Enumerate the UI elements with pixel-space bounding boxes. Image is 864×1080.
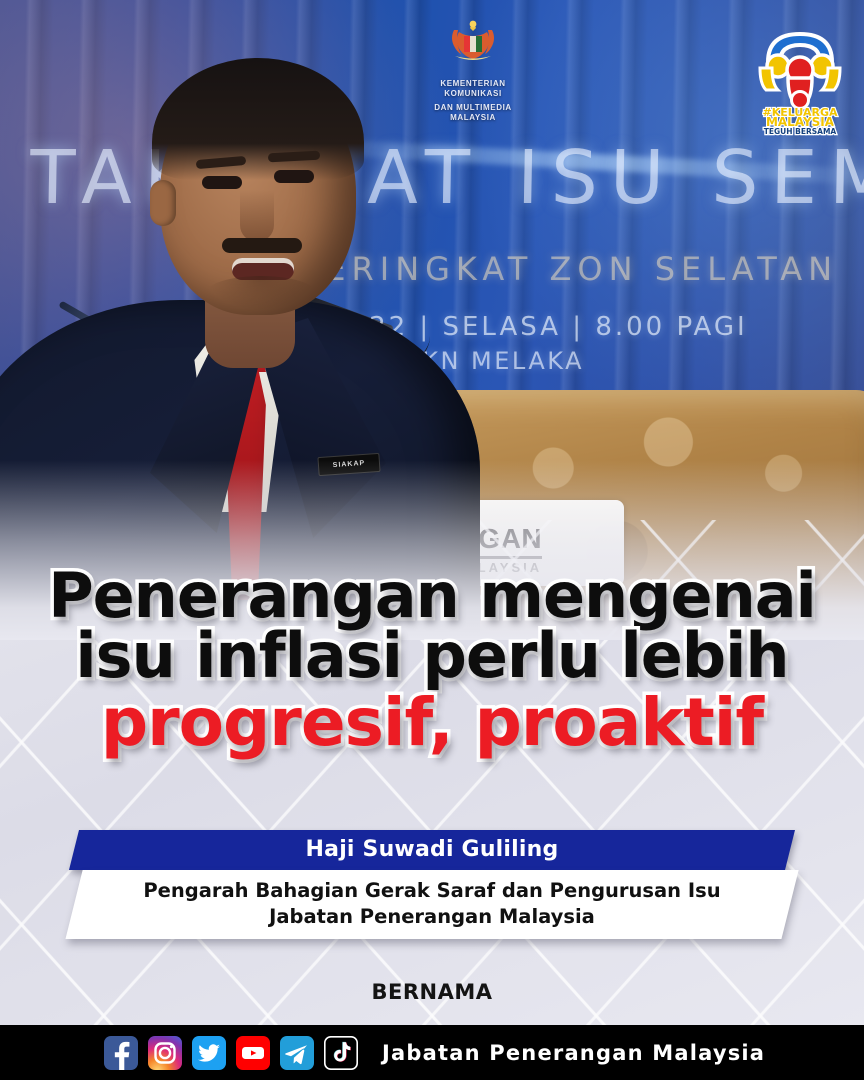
headline-line-3: progresif, proaktif [0, 691, 864, 754]
tiktok-icon[interactable] [324, 1036, 358, 1070]
instagram-icon[interactable] [148, 1036, 182, 1070]
podium-logo-top: JABATAN [338, 512, 542, 525]
speaker-eye-right [274, 170, 314, 183]
keluarga-logo-line3: TEGUH BERSAMA [764, 127, 837, 136]
headline-line-1: Penerangan mengenai [0, 566, 864, 626]
speaker-eye-left [202, 176, 242, 189]
speaker-name-badge: SIAKAP [317, 453, 380, 476]
speaker-title-line-1: Pengarah Bahagian Gerak Saraf dan Pengur… [84, 878, 780, 904]
speaker-figure: SIAKAP [0, 0, 560, 640]
twitter-icon[interactable] [192, 1036, 226, 1070]
keluarga-malaysia-logo: #KELUARGA MALAYSIA TEGUH BERSAMA [748, 16, 852, 136]
footer-bar: Jabatan Penerangan Malaysia [0, 1025, 864, 1080]
facebook-icon[interactable] [104, 1036, 138, 1070]
headline: Penerangan mengenai isu inflasi perlu le… [0, 566, 864, 754]
speaker-title-line-2: Jabatan Penerangan Malaysia [84, 904, 780, 930]
speaker-name-banner: Haji Suwadi Guliling [69, 830, 795, 870]
speaker-ear [150, 180, 176, 226]
speaker-title-banner: Pengarah Bahagian Gerak Saraf dan Pengur… [65, 870, 798, 939]
news-source-credit: BERNAMA [0, 980, 864, 1004]
speaker-nose [240, 190, 274, 242]
poster-root: KEMENTERIAN KOMUNIKASI DAN MULTIMEDIA MA… [0, 0, 864, 1080]
podium-logo-main: PENERANGAN [338, 525, 542, 553]
speaker-photo: KEMENTERIAN KOMUNIKASI DAN MULTIMEDIA MA… [0, 0, 864, 640]
attribution-banner-group: Haji Suwadi Guliling Pengarah Bahagian G… [0, 830, 864, 939]
speaker-title-block: Pengarah Bahagian Gerak Saraf dan Pengur… [74, 870, 790, 939]
footer-department-label: Jabatan Penerangan Malaysia [382, 1041, 765, 1065]
speaker-name: Haji Suwadi Guliling [74, 830, 790, 870]
social-links [104, 1036, 358, 1070]
telegram-icon[interactable] [280, 1036, 314, 1070]
headline-line-2: isu inflasi perlu lebih [0, 626, 864, 686]
speaker-moustache [222, 238, 302, 253]
speaker-chin-shadow [206, 276, 316, 310]
youtube-icon[interactable] [236, 1036, 270, 1070]
speaker-hair [152, 58, 364, 180]
